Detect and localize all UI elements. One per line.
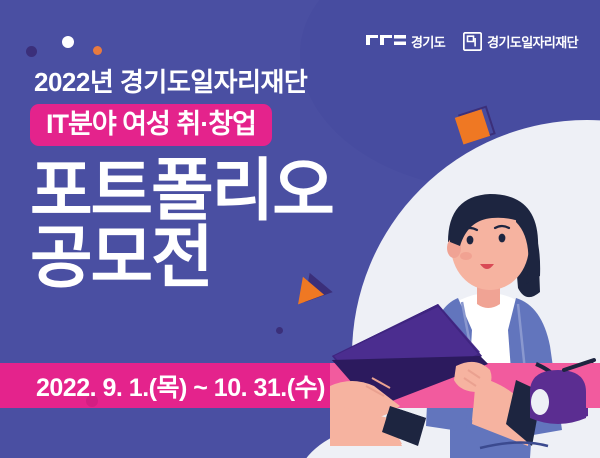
- figure-eye-right: [499, 234, 506, 243]
- dot-white-icon: [62, 36, 74, 48]
- job-foundation-logo: 경기도일자리재단: [463, 32, 578, 51]
- dot-small-purple-icon: [276, 327, 283, 334]
- job-foundation-label: 경기도일자리재단: [487, 32, 578, 51]
- dot-orange-icon: [93, 46, 102, 55]
- category-badge: IT분야 여성 취·창업: [30, 104, 272, 146]
- headline-line-1: 포트폴리오: [30, 153, 333, 229]
- promotional-poster: 경기도 경기도일자리재단 2022년 경기도일자리재단 IT분야 여성 취·창업…: [0, 0, 600, 458]
- date-range-text: 2022. 9. 1.(목) ~ 10. 31.(수): [36, 368, 325, 404]
- foundation-mark-icon: [463, 32, 482, 51]
- woman-with-laptop-illustration: [330, 180, 600, 458]
- headline-line-2: 공모전: [30, 225, 333, 292]
- figure-blush: [460, 252, 472, 260]
- organization-line: 2022년 경기도일자리재단: [34, 62, 307, 99]
- gyeonggi-province-logo: 경기도: [366, 32, 445, 51]
- logo-group: 경기도 경기도일자리재단: [366, 32, 578, 51]
- gyeonggi-province-label: 경기도: [411, 32, 445, 51]
- figure-eye-left: [467, 236, 474, 245]
- date-band-light-section: [330, 363, 600, 408]
- page-title: 포트폴리오 공모전: [30, 158, 333, 291]
- dot-purple-icon: [26, 46, 37, 57]
- gyeonggi-mark-icon: [366, 34, 406, 49]
